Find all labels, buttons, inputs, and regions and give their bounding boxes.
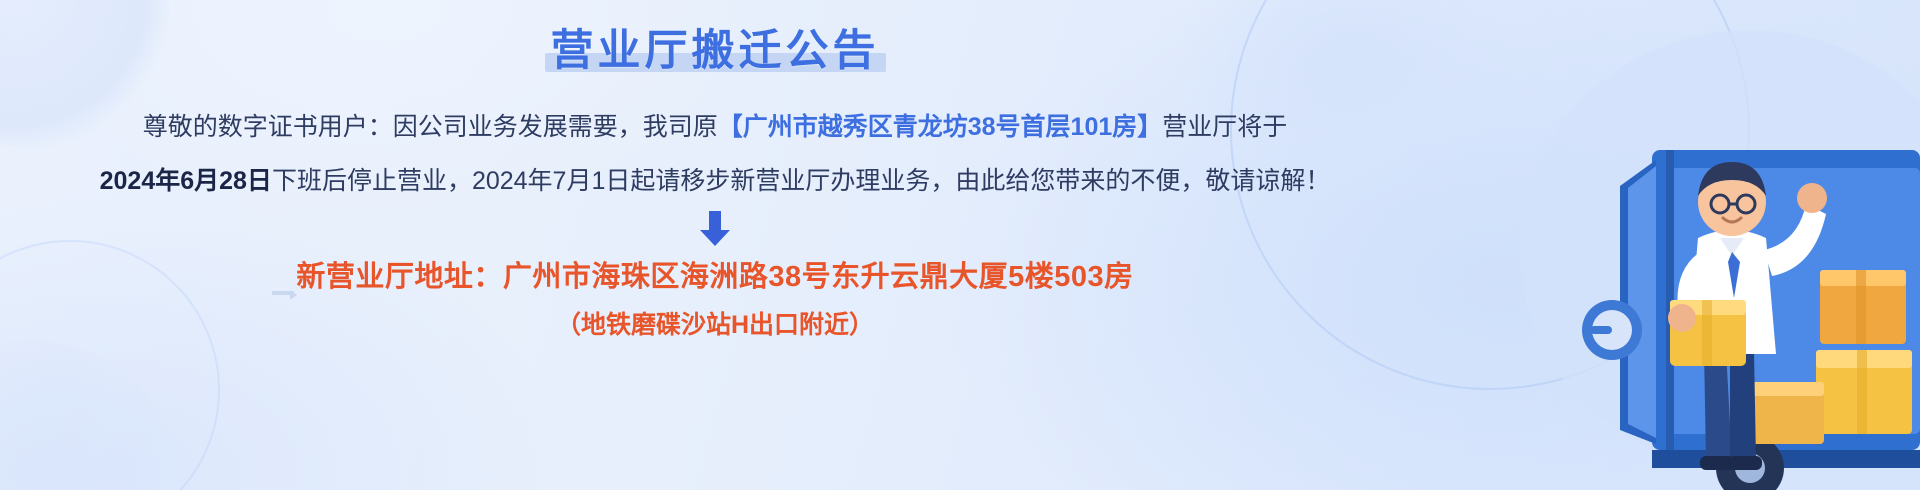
arrow-down-icon [695, 211, 735, 247]
announcement-line-1: 尊敬的数字证书用户：因公司业务发展需要，我司原【广州市越秀区青龙坊38号首层10… [0, 111, 1430, 145]
person-hand-right [1797, 183, 1827, 213]
old-address-text: 【广州市越秀区青龙坊38号首层101房】 [718, 113, 1163, 141]
illustration-svg [1420, 0, 1920, 490]
announcement-line-2: 2024年6月28日下班后停止营业，2024年7月1日起请移步新营业厅办理业务，… [0, 165, 1430, 199]
page-title: 营业厅搬迁公告 [551, 28, 880, 74]
closing-date-text: 2024年6月28日 [100, 167, 272, 195]
page-title-wrapper: 营业厅搬迁公告 [551, 28, 880, 74]
pointer-tick-icon [272, 291, 294, 295]
relocation-announcement-banner: 营业厅搬迁公告 尊敬的数字证书用户：因公司业务发展需要，我司原【广州市越秀区青龙… [0, 0, 1920, 490]
new-address-line: 新营业厅地址：广州市海珠区海洲路38号东升云鼎大厦5楼503房 [0, 253, 1430, 295]
person-hand-left [1668, 304, 1696, 332]
announcement-content: 营业厅搬迁公告 尊敬的数字证书用户：因公司业务发展需要，我司原【广州市越秀区青龙… [0, 0, 1430, 490]
line2-rest: 下班后停止营业，2024年7月1日起请移步新营业厅办理业务，由此给您带来的不便，… [272, 167, 1330, 195]
line1-suffix: 营业厅将于 [1162, 113, 1287, 141]
new-address-note: （地铁磨碟沙站H出口附近） [0, 305, 1430, 341]
arrow-down-container [0, 211, 1430, 247]
line1-prefix: 尊敬的数字证书用户：因公司业务发展需要，我司原 [143, 113, 718, 141]
moving-truck-illustration [1420, 0, 1920, 490]
